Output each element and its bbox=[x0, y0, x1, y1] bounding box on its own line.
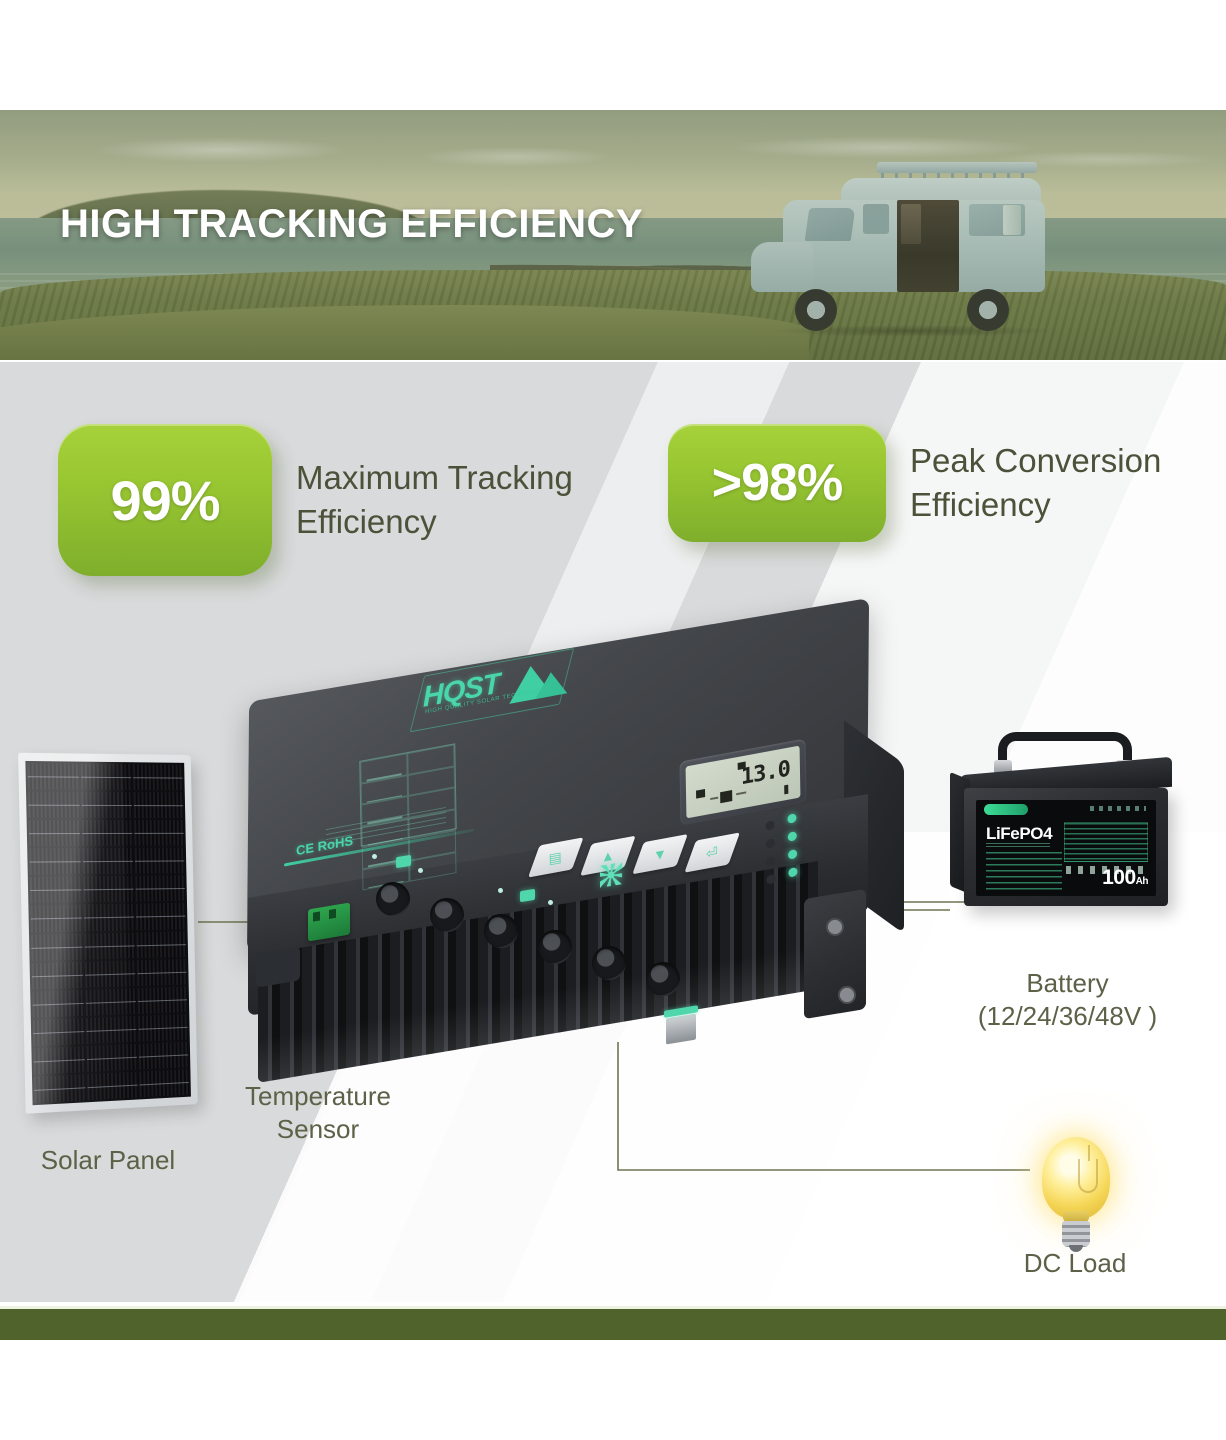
bulb-glass bbox=[1042, 1137, 1110, 1219]
sun-icon bbox=[600, 862, 622, 888]
led-indicator-2 bbox=[788, 831, 797, 842]
down-button[interactable]: ▼ bbox=[632, 834, 688, 874]
terminal-port-2 bbox=[430, 898, 464, 932]
mount-hole-bottom bbox=[838, 986, 856, 1004]
led-label-1 bbox=[765, 820, 774, 831]
caption-battery: Battery (12/24/36/48V ) bbox=[930, 967, 1205, 1032]
panel-dot-3 bbox=[418, 868, 423, 873]
caption-temperature-line1: Temperature bbox=[218, 1080, 418, 1113]
chevron-up-icon: ▲ bbox=[601, 847, 615, 866]
mount-hole-top bbox=[826, 918, 844, 936]
battery-brand-logo bbox=[984, 804, 1028, 815]
chevron-down-icon: ▼ bbox=[653, 845, 667, 864]
dc-load-bulb bbox=[1030, 1137, 1122, 1253]
battery-feature-bullets bbox=[986, 852, 1062, 892]
caption-temperature-sensor: Temperature Sensor bbox=[218, 1080, 418, 1145]
camper-van bbox=[745, 138, 1075, 333]
battery-capacity-value: 100 bbox=[1102, 866, 1136, 889]
menu-icon: ▤ bbox=[549, 848, 563, 867]
battery-chemistry: LiFePO4 bbox=[986, 824, 1052, 844]
battery-capacity: 100Ah bbox=[1102, 866, 1148, 890]
footer-green-band bbox=[0, 1309, 1226, 1340]
panel-dot-2 bbox=[498, 888, 503, 893]
van-sliding-door-open bbox=[897, 200, 959, 292]
led-indicator-1 bbox=[787, 813, 796, 824]
lcd-tick-2 bbox=[736, 791, 746, 795]
hero-title: HIGH TRACKING EFFICIENCY bbox=[60, 202, 643, 247]
led-indicator-4 bbox=[788, 867, 797, 878]
caption-dc-load: DC Load bbox=[985, 1247, 1165, 1280]
lcd-voltage-value: 13.0 bbox=[741, 756, 790, 790]
mppt-charge-controller: HQST HIGH QUALITY SOLAR TECHNOLOGY CE Ro… bbox=[248, 650, 908, 1070]
lcd-battery-icon bbox=[696, 789, 705, 799]
van-front-wheel bbox=[795, 289, 837, 331]
system-wiring-diagram: HQST HIGH QUALITY SOLAR TECHNOLOGY CE Ro… bbox=[0, 362, 1226, 1302]
van-roof-rack bbox=[877, 162, 1037, 173]
caption-temperature-line2: Sensor bbox=[218, 1113, 418, 1146]
van-front-window bbox=[863, 204, 889, 234]
terminal-port-4 bbox=[538, 930, 572, 964]
battery-label-model-text bbox=[1090, 806, 1146, 811]
top-margin bbox=[0, 0, 1226, 110]
led-label-3 bbox=[766, 856, 775, 867]
panel-dot-1 bbox=[372, 854, 377, 859]
rj45-communication-port bbox=[666, 1013, 696, 1044]
lcd-status-icon bbox=[738, 762, 746, 770]
led-label-4 bbox=[766, 874, 775, 885]
controller-mount-bracket-right bbox=[804, 889, 866, 1019]
bulb-filament bbox=[1078, 1159, 1098, 1193]
battery-capacity-unit: Ah bbox=[1136, 876, 1148, 887]
van-curtain bbox=[1003, 205, 1021, 235]
footer-white-margin bbox=[0, 1340, 1226, 1440]
caption-battery-line2: (12/24/36/48V ) bbox=[930, 1000, 1205, 1033]
battery-product-label: LiFePO4 100Ah bbox=[976, 800, 1156, 896]
caption-battery-line1: Battery bbox=[930, 967, 1205, 1000]
lifepo4-battery: LiFePO4 100Ah bbox=[950, 732, 1180, 922]
hero-banner: HIGH TRACKING EFFICIENCY bbox=[0, 110, 1226, 360]
terminal-port-1 bbox=[376, 882, 410, 916]
van-windshield bbox=[805, 208, 856, 241]
bulb-screw-base bbox=[1062, 1221, 1090, 1247]
panel-dot-4 bbox=[548, 900, 553, 905]
lcd-tick-1 bbox=[710, 797, 718, 800]
caption-solar-panel: Solar Panel bbox=[8, 1144, 208, 1177]
main-panel: 99% Maximum Tracking Efficiency >98% Pea… bbox=[0, 362, 1226, 1302]
battery-spec-table bbox=[1064, 822, 1148, 862]
terminal-port-3 bbox=[484, 914, 518, 948]
lcd-load-icon bbox=[784, 785, 788, 795]
led-indicator-3 bbox=[788, 849, 797, 860]
terminal-port-5 bbox=[592, 946, 626, 980]
solar-panel-cells bbox=[25, 761, 191, 1105]
van-hood bbox=[751, 242, 813, 292]
controller-status-leds bbox=[757, 812, 804, 890]
terminal-port-6 bbox=[646, 962, 680, 996]
battery-label-subtitle bbox=[986, 843, 1050, 848]
led-label-2 bbox=[766, 838, 775, 849]
van-rear-wheel bbox=[967, 289, 1009, 331]
lcd-panel-icon bbox=[720, 790, 732, 803]
enter-icon: ⏎ bbox=[706, 843, 718, 862]
mountain-icon-small bbox=[535, 669, 567, 699]
solar-panel bbox=[18, 753, 198, 1114]
